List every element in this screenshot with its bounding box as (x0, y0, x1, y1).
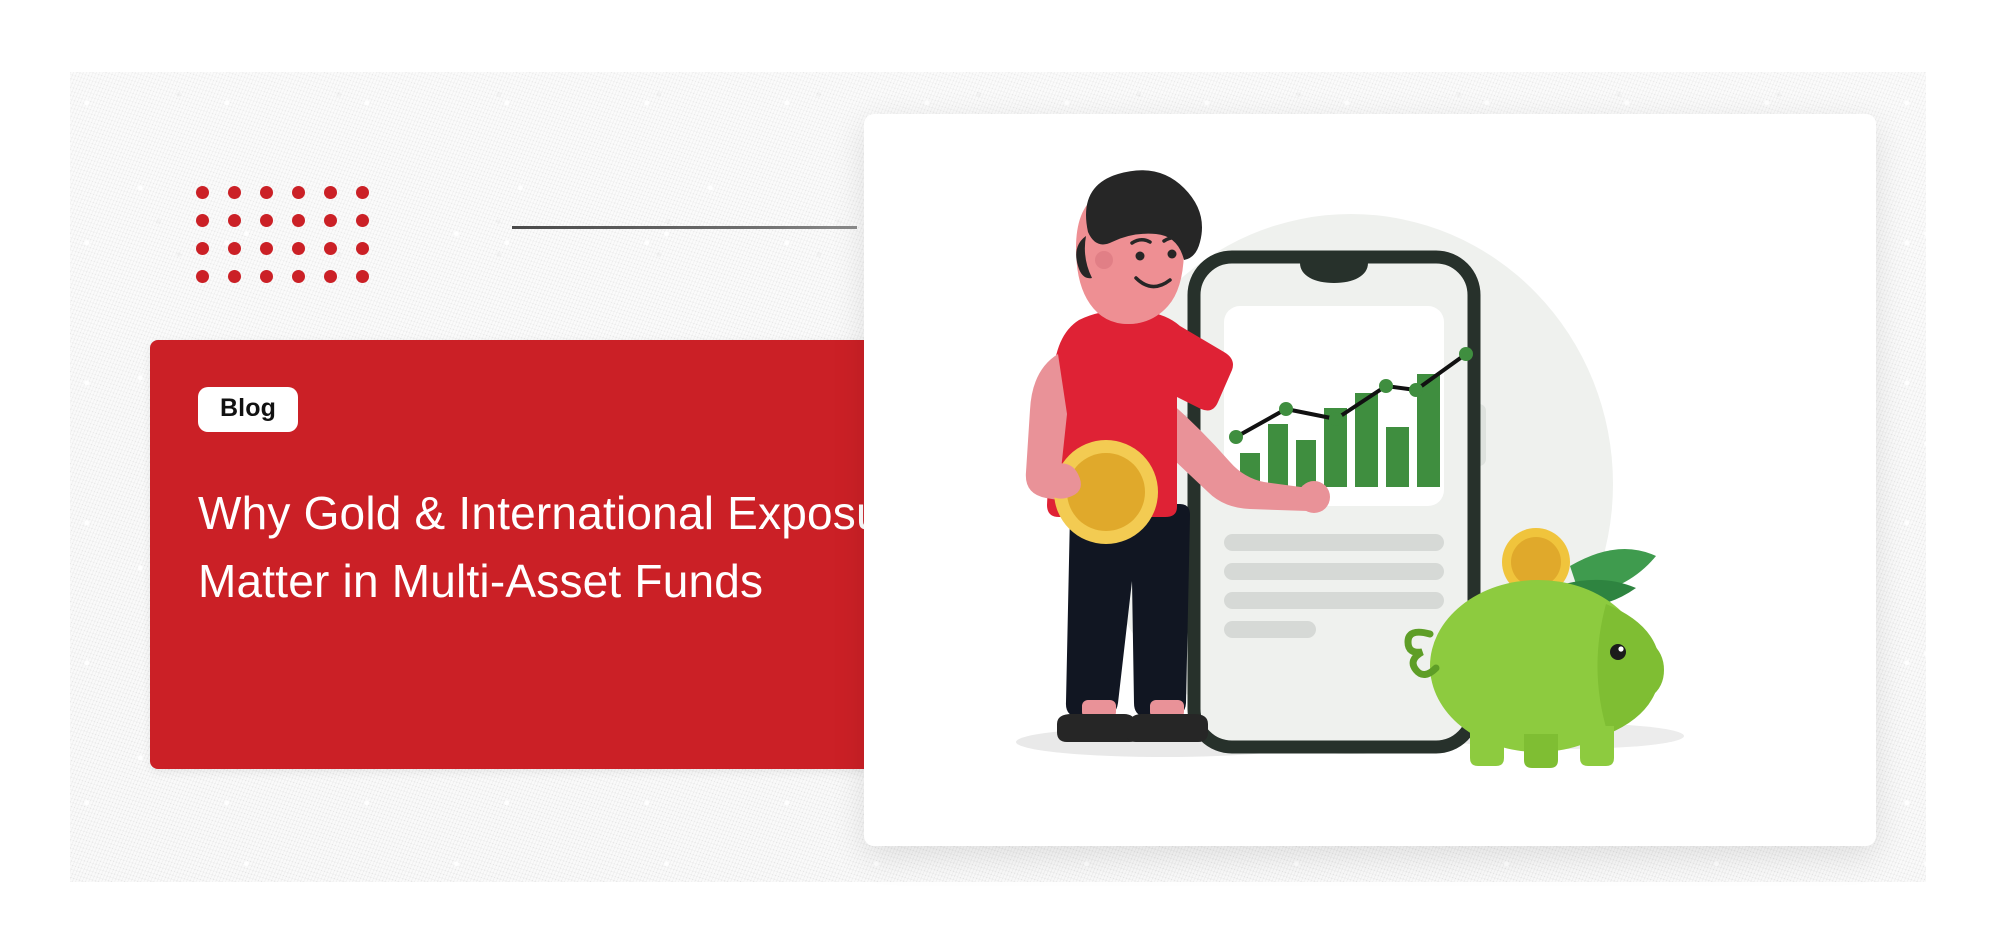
piggy-eye-highlight (1618, 646, 1623, 651)
dot (228, 270, 241, 283)
chart-bar (1355, 393, 1378, 487)
dot (196, 270, 209, 283)
chart-point (1279, 402, 1293, 416)
dot (260, 242, 273, 255)
investor-illustration (864, 114, 1876, 846)
dot (292, 214, 305, 227)
chart-bar (1268, 424, 1288, 487)
dot (228, 214, 241, 227)
page-title: Why Gold & International Exposure Matter… (198, 480, 958, 615)
dot (228, 242, 241, 255)
piggy-eye (1610, 644, 1626, 660)
banner-stage: Blog Why Gold & International Exposure M… (0, 0, 1990, 947)
person-shoe (1057, 714, 1138, 742)
dot (196, 242, 209, 255)
dot (196, 214, 209, 227)
dot (260, 214, 273, 227)
dot (324, 270, 337, 283)
piggy-coin-inner (1511, 537, 1561, 587)
dot (356, 242, 369, 255)
dot (196, 186, 209, 199)
illustration-card (864, 114, 1876, 846)
placeholder-line (1224, 563, 1444, 580)
dot (356, 270, 369, 283)
piggy-leg (1470, 726, 1504, 766)
placeholder-line (1224, 534, 1444, 551)
piggy-leg (1524, 734, 1558, 768)
dot (324, 242, 337, 255)
placeholder-line (1224, 621, 1316, 638)
chart-point (1409, 383, 1423, 397)
red-dot-grid (196, 186, 388, 298)
chart-point (1329, 412, 1343, 426)
chart-point (1459, 347, 1473, 361)
person-eye (1136, 252, 1145, 261)
person-eye (1168, 250, 1177, 259)
dot (356, 186, 369, 199)
dot (260, 270, 273, 283)
dot (292, 186, 305, 199)
chart-bar (1296, 440, 1316, 487)
dot (324, 214, 337, 227)
coin-inner (1067, 453, 1145, 531)
piggy-leg (1580, 726, 1614, 766)
chart-point (1229, 430, 1243, 444)
category-badge: Blog (198, 387, 298, 432)
dot (292, 270, 305, 283)
piggy-snout (1634, 634, 1664, 704)
horizontal-rule (512, 226, 857, 229)
dot (292, 242, 305, 255)
dot (356, 214, 369, 227)
dot (228, 186, 241, 199)
chart-point (1379, 379, 1393, 393)
dot (324, 186, 337, 199)
person-shoe (1127, 714, 1208, 742)
placeholder-line (1224, 592, 1444, 609)
person-far-hand (1298, 481, 1330, 513)
person-ear (1095, 251, 1113, 269)
dot (260, 186, 273, 199)
chart-bar (1386, 427, 1409, 487)
